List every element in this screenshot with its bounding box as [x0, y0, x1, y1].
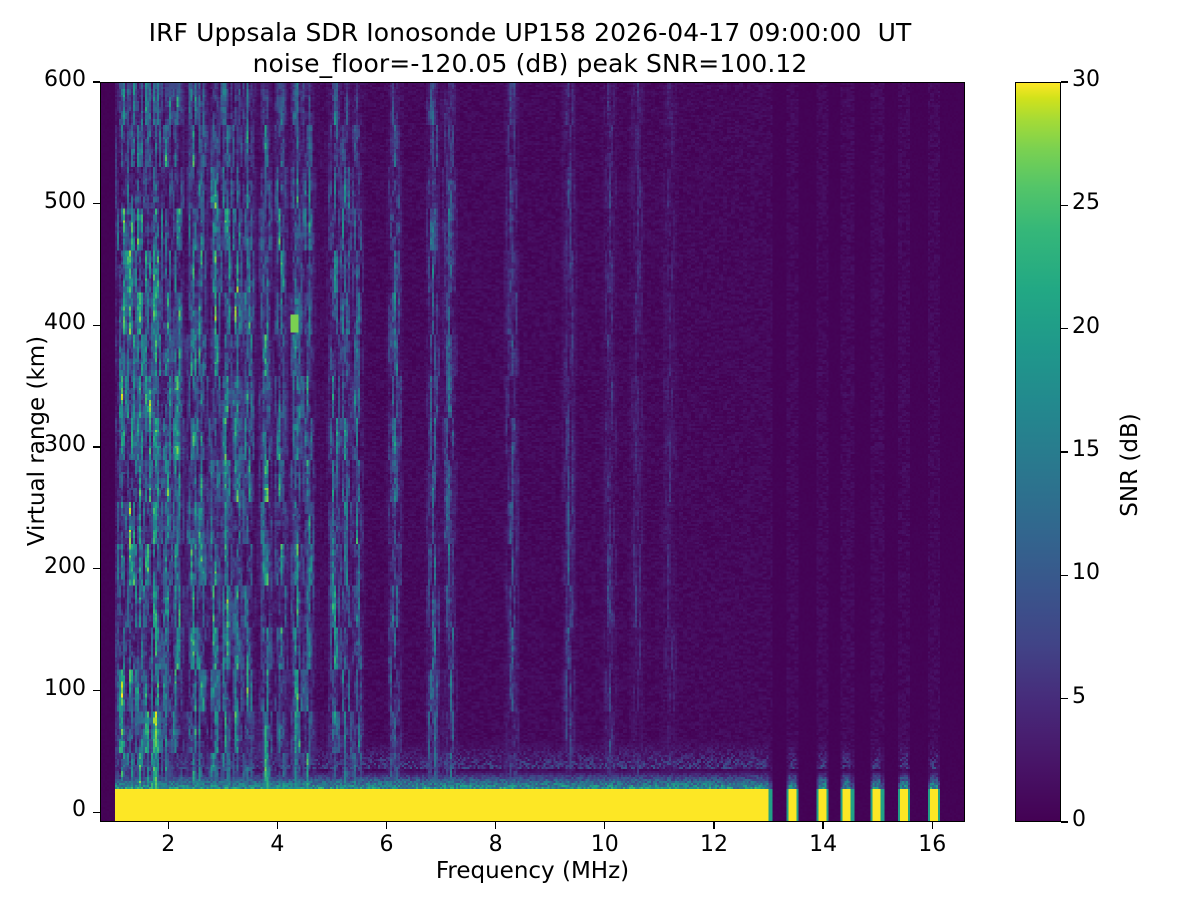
y-axis-label: Virtual range (km): [24, 291, 50, 591]
y-tick-mark: [93, 690, 100, 691]
y-tick-label: 500: [0, 189, 86, 214]
colorbar-tick-mark: [1061, 81, 1068, 82]
colorbar-tick-mark: [1061, 205, 1068, 206]
x-tick-label: 2: [128, 832, 208, 857]
colorbar-tick-label: 30: [1072, 67, 1100, 92]
y-tick-mark: [93, 81, 100, 82]
colorbar-tick-label: 15: [1072, 437, 1100, 462]
x-tick-mark: [604, 822, 605, 829]
y-tick-mark: [93, 325, 100, 326]
colorbar-tick-label: 20: [1072, 314, 1100, 339]
x-tick-label: 16: [892, 832, 972, 857]
y-tick-label: 100: [0, 676, 86, 701]
x-tick-mark: [495, 822, 496, 829]
y-tick-label: 0: [0, 797, 86, 822]
y-tick-label: 600: [0, 67, 86, 92]
ionogram-plot-area[interactable]: [100, 82, 965, 822]
x-tick-label: 6: [347, 832, 427, 857]
y-tick-mark: [93, 446, 100, 447]
colorbar-tick-label: 5: [1072, 684, 1086, 709]
x-tick-label: 14: [783, 832, 863, 857]
colorbar-tick-label: 0: [1072, 807, 1086, 832]
colorbar-label: SNR (dB): [1117, 335, 1143, 595]
x-tick-label: 8: [456, 832, 536, 857]
y-tick-mark: [93, 568, 100, 569]
x-tick-mark: [386, 822, 387, 829]
colorbar-tick-mark: [1061, 821, 1068, 822]
x-tick-mark: [277, 822, 278, 829]
y-tick-mark: [93, 203, 100, 204]
title-line-2: noise_floor=-120.05 (dB) peak SNR=100.12: [0, 49, 1060, 80]
colorbar-tick-label: 10: [1072, 560, 1100, 585]
figure-title: IRF Uppsala SDR Ionosonde UP158 2026-04-…: [0, 18, 1060, 79]
x-tick-label: 10: [565, 832, 645, 857]
colorbar-tick-mark: [1061, 451, 1068, 452]
y-tick-mark: [93, 812, 100, 813]
ionogram-figure: IRF Uppsala SDR Ionosonde UP158 2026-04-…: [0, 0, 1200, 900]
x-tick-mark: [932, 822, 933, 829]
x-tick-label: 12: [674, 832, 754, 857]
x-tick-label: 4: [237, 832, 317, 857]
title-line-1: IRF Uppsala SDR Ionosonde UP158 2026-04-…: [0, 18, 1060, 49]
colorbar-tick-mark: [1061, 698, 1068, 699]
ionogram-heatmap: [101, 83, 964, 821]
snr-colorbar[interactable]: [1015, 82, 1061, 822]
x-tick-mark: [822, 822, 823, 829]
x-tick-mark: [168, 822, 169, 829]
x-tick-mark: [713, 822, 714, 829]
colorbar-tick-mark: [1061, 328, 1068, 329]
colorbar-tick-mark: [1061, 575, 1068, 576]
x-axis-label: Frequency (MHz): [100, 858, 965, 884]
colorbar-tick-label: 25: [1072, 190, 1100, 215]
